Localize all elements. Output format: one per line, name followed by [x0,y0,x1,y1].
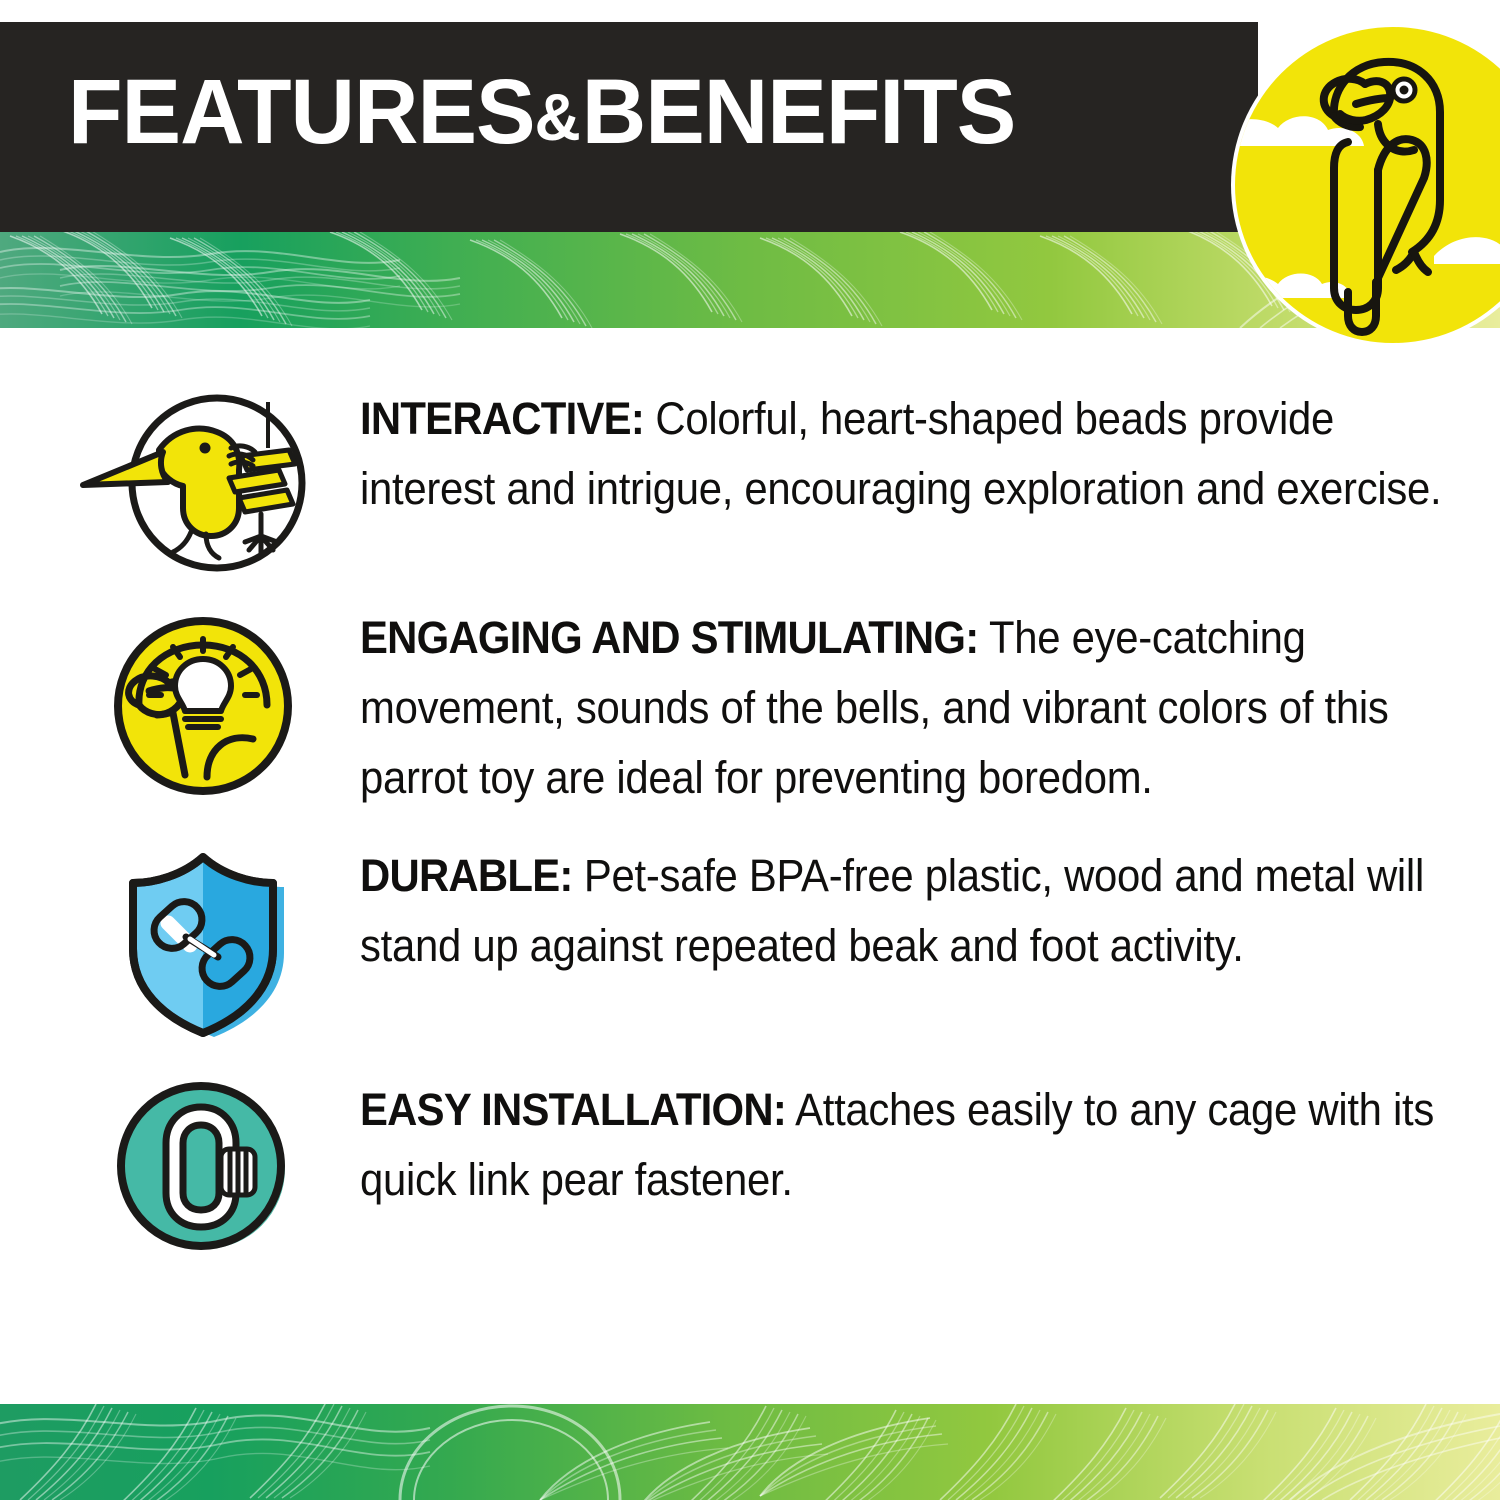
feature-row: ENGAGING AND STIMULATING: The eye-catchi… [0,601,1500,813]
feature-text: DURABLE: Pet-safe BPA-free plastic, wood… [360,841,1460,981]
page-title-tail: BENEFITS [582,61,1016,163]
bird-head-lightbulb-icon [103,609,303,804]
page-title: FEATURES&BENEFITS [68,64,1015,165]
bottom-decorative-band [0,1404,1500,1500]
parrot-on-branch-icon [1228,20,1500,350]
features-list: INTERACTIVE: Colorful, heart-shaped bead… [0,382,1500,1257]
feature-text-cell: INTERACTIVE: Colorful, heart-shaped bead… [358,382,1460,524]
feature-text-cell: DURABLE: Pet-safe BPA-free plastic, wood… [358,839,1460,981]
shield-chain-link-icon [108,845,298,1045]
feature-icon-cell [48,1073,358,1257]
feature-icon-cell [48,839,358,1045]
page-title-ampersand: & [535,80,582,154]
page-title-main: FEATURES [68,61,535,163]
feature-lead: EASY INSTALLATION: [360,1084,786,1135]
feature-row: DURABLE: Pet-safe BPA-free plastic, wood… [0,839,1500,1045]
feature-lead: DURABLE: [360,850,573,901]
feature-row: INTERACTIVE: Colorful, heart-shaped bead… [0,382,1500,575]
feature-text-cell: EASY INSTALLATION: Attaches easily to an… [358,1073,1460,1215]
bird-with-hanging-toy-icon [73,390,333,575]
feature-benefits-panel: FEATURES&BENEFITS [0,0,1500,1500]
feature-text: EASY INSTALLATION: Attaches easily to an… [360,1075,1460,1215]
feature-text: ENGAGING AND STIMULATING: The eye-catchi… [360,603,1460,813]
feature-lead: ENGAGING AND STIMULATING: [360,612,978,663]
feature-icon-cell [48,601,358,804]
feature-text: INTERACTIVE: Colorful, heart-shaped bead… [360,384,1460,524]
feature-icon-cell [48,382,358,575]
quick-link-fastener-icon [108,1077,298,1257]
feature-row: EASY INSTALLATION: Attaches easily to an… [0,1073,1500,1257]
feature-lead: INTERACTIVE: [360,393,644,444]
feature-text-cell: ENGAGING AND STIMULATING: The eye-catchi… [358,601,1460,813]
parrot-badge [1228,20,1500,350]
palm-frond-band-icon [0,1404,1500,1500]
